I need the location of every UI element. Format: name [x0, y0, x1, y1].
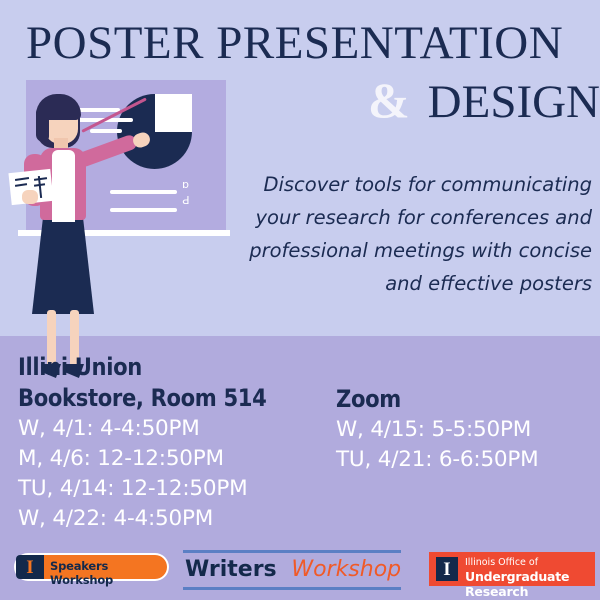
- pie-chart-slice: [155, 94, 193, 132]
- page-title-design-word: DESIGN: [428, 76, 600, 128]
- presenter-hand-left: [22, 190, 38, 204]
- board-mark-icon: Ԁ: [182, 194, 190, 207]
- presenter-illustration: ɒ Ԁ: [0, 78, 228, 336]
- illinois-block-i-icon: I: [436, 557, 458, 581]
- writers-workshop-label: Writers Workshop: [185, 556, 399, 584]
- venue-heading-line-1: Illini Union: [18, 352, 300, 383]
- board-text-line: [78, 108, 120, 112]
- venue-heading-line-1: Zoom: [336, 384, 565, 415]
- venue-heading-line-2: Bookstore, Room 514: [18, 383, 300, 414]
- illinois-block-i-icon: I: [16, 555, 44, 579]
- event-description: Discover tools for communicating your re…: [230, 168, 592, 300]
- block-i-glyph: I: [443, 560, 450, 579]
- board-text-line: [110, 208, 177, 212]
- board-mark-icon: ɒ: [182, 178, 189, 191]
- presenter-shirt: [52, 150, 75, 222]
- logo-undergraduate-research[interactable]: I Illinois Office of Undergraduate Resea…: [429, 552, 595, 586]
- page-title-line-1: POSTER PRESENTATION: [26, 16, 586, 70]
- session-time: TU, 4/21: 6-6:50PM: [336, 445, 596, 475]
- writers-rule-top: [183, 550, 401, 553]
- uor-label-line-2: Undergraduate Research: [465, 569, 595, 599]
- schedule-section: Illini Union Bookstore, Room 514 W, 4/1:…: [0, 352, 600, 542]
- presenter-hair-side: [36, 108, 49, 142]
- schedule-column-zoom: Zoom W, 4/15: 5-5:50PM TU, 4/21: 6-6:50P…: [336, 384, 596, 475]
- writers-word: Writers: [185, 557, 284, 582]
- session-time: W, 4/1: 4-4:50PM: [18, 414, 338, 444]
- footer-logo-bar: I Speakers Workshop Writers Workshop I I…: [0, 542, 600, 600]
- ampersand-glyph: &: [368, 72, 410, 128]
- poster-canvas: POSTER PRESENTATION &DESIGN Discover too…: [0, 0, 600, 600]
- schedule-column-illini-union: Illini Union Bookstore, Room 514 W, 4/1:…: [18, 352, 338, 534]
- logo-speakers-workshop[interactable]: I Speakers Workshop: [14, 553, 169, 581]
- logo-writers-workshop[interactable]: Writers Workshop: [183, 550, 401, 590]
- writers-rule-bottom: [183, 587, 401, 590]
- board-text-line: [90, 129, 122, 133]
- block-i-glyph: I: [26, 558, 33, 577]
- board-text-line: [110, 190, 177, 194]
- workshop-word: Workshop: [291, 557, 401, 582]
- session-time: W, 4/22: 4-4:50PM: [18, 504, 338, 534]
- session-time: W, 4/15: 5-5:50PM: [336, 415, 596, 445]
- session-time: M, 4/6: 12-12:50PM: [18, 444, 338, 474]
- uor-label-line-1: Illinois Office of: [465, 557, 538, 568]
- page-title-line-2: &DESIGN: [255, 72, 600, 130]
- session-time: TU, 4/14: 12-12:50PM: [18, 474, 338, 504]
- speakers-workshop-label: Speakers Workshop: [50, 559, 169, 587]
